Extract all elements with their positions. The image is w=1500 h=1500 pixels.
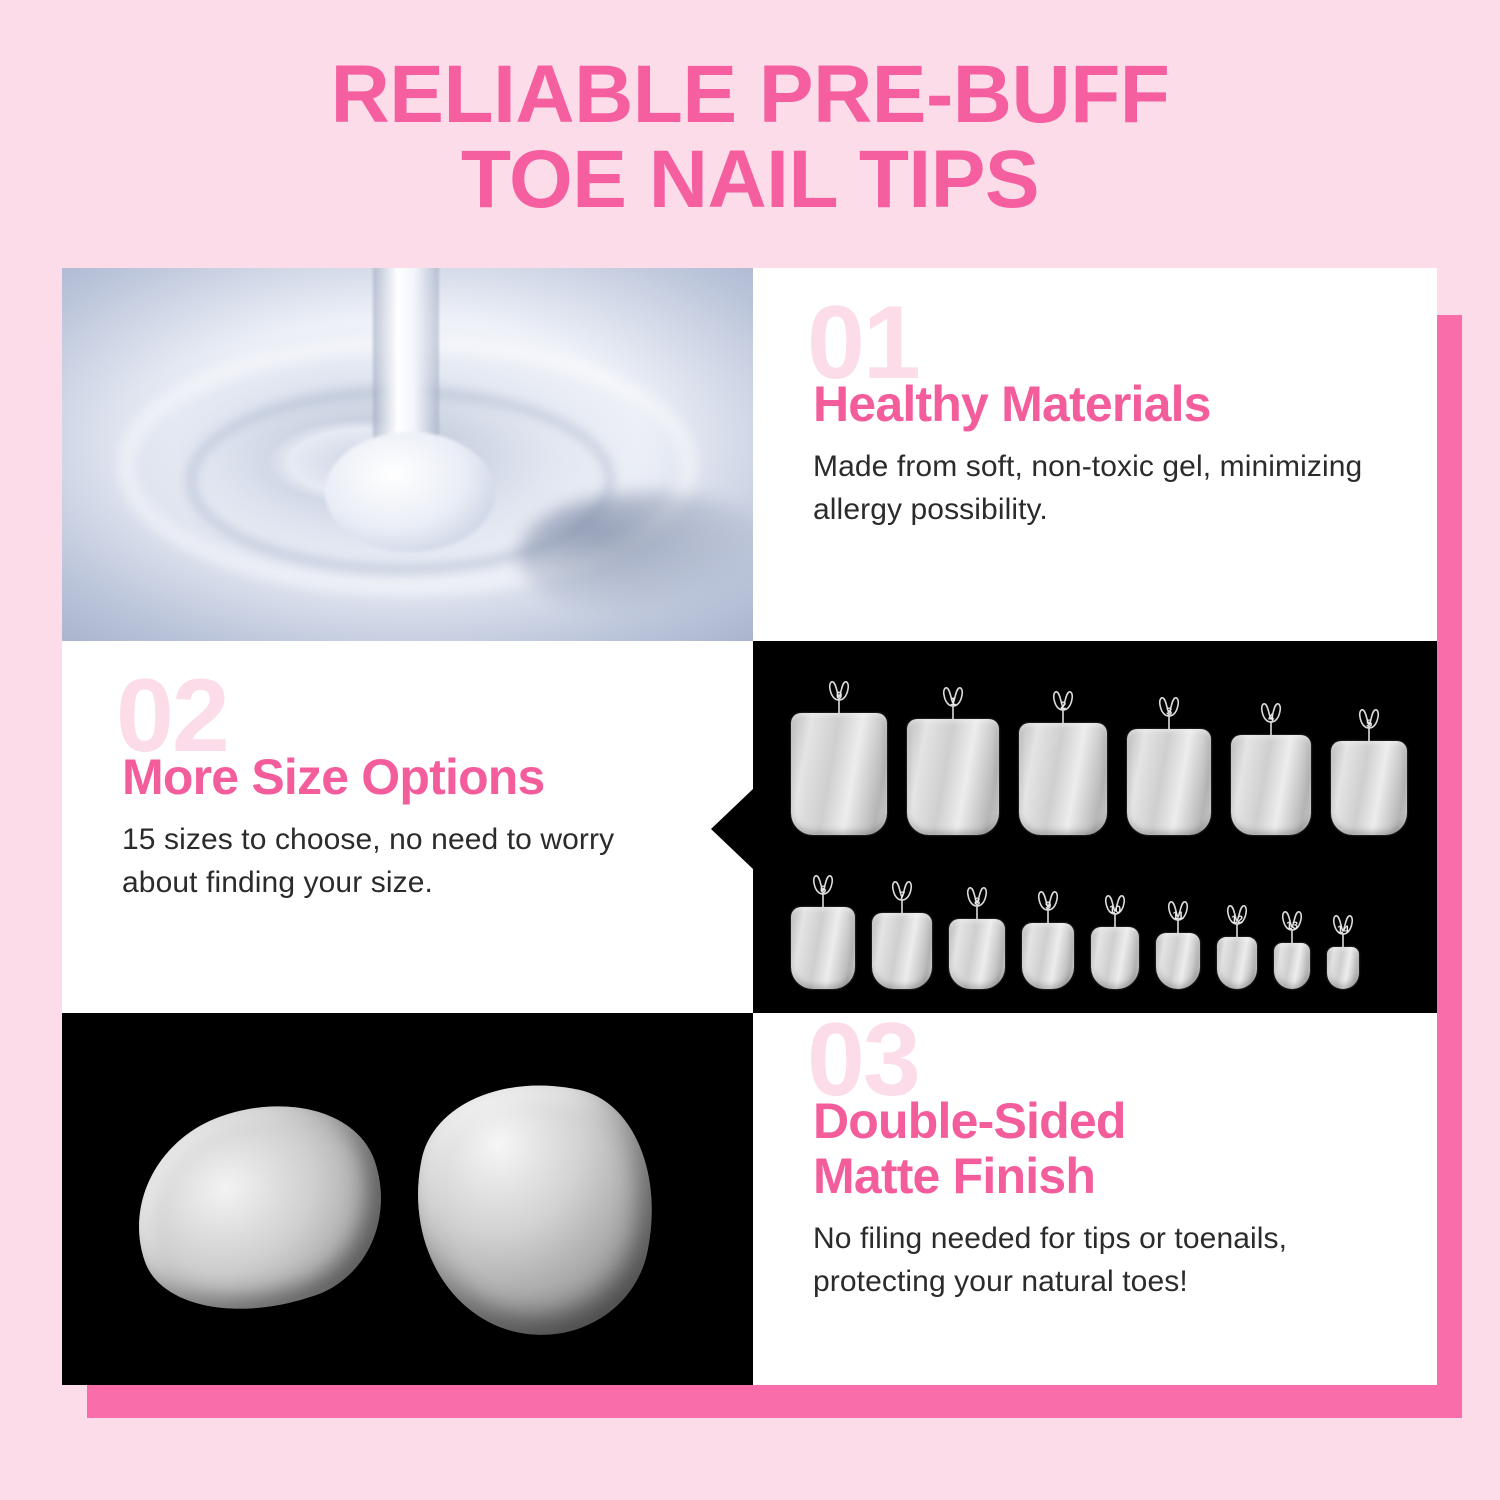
- nail-tip-size-3: 3: [1127, 695, 1211, 835]
- butterfly-tab-icon: 11: [1163, 899, 1193, 937]
- nail-tip-size-9: 9: [1022, 889, 1074, 989]
- feature-title-02: More Size Options: [122, 750, 693, 805]
- nail-tip-size-2: 2: [1019, 689, 1107, 835]
- butterfly-tab-icon: 4: [1256, 701, 1286, 739]
- nail-tip-body: [1217, 937, 1257, 989]
- nail-tip-size-label: 9: [1033, 900, 1063, 912]
- feature-title-03-line-1: Double-Sided: [813, 1093, 1126, 1149]
- feature-image-healthy-materials: [62, 268, 753, 641]
- nail-tip-row-bottom: 67891011121314: [791, 873, 1359, 989]
- feature-description-02: 15 sizes to choose, no need to worry abo…: [122, 819, 693, 904]
- nail-tip-body: [1127, 729, 1211, 835]
- nail-tip-body: [1327, 947, 1359, 989]
- nail-tip-body: [1156, 933, 1200, 989]
- nail-tip-body: [872, 913, 932, 989]
- butterfly-tab-icon: 3: [1154, 695, 1184, 733]
- nail-tip-size-label: 8: [962, 896, 992, 908]
- butterfly-tab-icon: 1: [938, 685, 968, 723]
- title-line-1: RELIABLE PRE-BUFF: [0, 52, 1500, 137]
- nail-tip-row-top: 012345: [791, 679, 1407, 835]
- page-title: RELIABLE PRE-BUFF TOE NAIL TIPS: [0, 52, 1500, 223]
- gel-blob-shape: [325, 432, 495, 552]
- nail-tip-size-4: 4: [1231, 701, 1311, 835]
- feature-description-03: No filing needed for tips or toenails, p…: [813, 1218, 1377, 1303]
- feature-description-01: Made from soft, non-toxic gel, minimizin…: [813, 446, 1377, 531]
- nail-tip-body: [1231, 735, 1311, 835]
- butterfly-tab-icon: 0: [824, 679, 854, 717]
- nail-tip-size-label: 5: [1354, 718, 1384, 730]
- butterfly-tab-icon: 12: [1222, 903, 1252, 941]
- nail-tip-body: [1331, 741, 1407, 835]
- nail-tip-size-1: 1: [907, 685, 999, 835]
- butterfly-tab-icon: 8: [962, 885, 992, 923]
- nail-tip-size-12: 12: [1217, 903, 1257, 989]
- nail-tip-size-5: 5: [1331, 707, 1407, 835]
- feature-grid: 01 Healthy Materials Made from soft, non…: [62, 268, 1437, 1385]
- feature-title-03-line-2: Matte Finish: [813, 1148, 1095, 1204]
- nail-tip-size-label: 2: [1048, 700, 1078, 712]
- nail-tip-size-7: 7: [872, 879, 932, 989]
- nail-tip-body: [791, 713, 887, 835]
- butterfly-tab-icon: 7: [887, 879, 917, 917]
- nail-tip-body: [907, 719, 999, 835]
- gel-shadow-shape: [518, 492, 753, 619]
- butterfly-tab-icon: 13: [1277, 909, 1307, 947]
- nail-tip-size-label: 1: [938, 696, 968, 708]
- butterfly-tab-icon: 6: [808, 873, 838, 911]
- feature-image-size-chart: 012345 67891011121314: [753, 641, 1437, 1013]
- butterfly-tab-icon: 9: [1033, 889, 1063, 927]
- nail-tip-size-label: 3: [1154, 706, 1184, 718]
- butterfly-tab-icon: 5: [1354, 707, 1384, 745]
- feature-title-03: Double-Sided Matte Finish: [813, 1094, 1377, 1204]
- feature-text-more-size-options: 02 More Size Options 15 sizes to choose,…: [62, 641, 753, 1013]
- nail-tip-body: [949, 919, 1005, 989]
- nail-tip-size-label: 6: [808, 884, 838, 896]
- nail-tip-size-label: 4: [1256, 712, 1286, 724]
- nail-tip-size-13: 13: [1274, 909, 1310, 989]
- nail-tip-size-0: 0: [791, 679, 887, 835]
- feature-title-01: Healthy Materials: [813, 377, 1377, 432]
- nail-tip-size-label: 7: [887, 890, 917, 902]
- product-infographic: RELIABLE PRE-BUFF TOE NAIL TIPS 01 Healt…: [0, 0, 1500, 1500]
- feature-text-healthy-materials: 01 Healthy Materials Made from soft, non…: [753, 268, 1437, 641]
- nail-tip-body: [1019, 723, 1107, 835]
- matte-nail-tip-back: [391, 1061, 678, 1355]
- title-line-2: TOE NAIL TIPS: [0, 137, 1500, 222]
- nail-tip-size-label: 13: [1277, 920, 1307, 932]
- butterfly-tab-icon: 10: [1100, 893, 1130, 931]
- nail-tip-size-label: 11: [1163, 910, 1193, 922]
- butterfly-tab-icon: 2: [1048, 689, 1078, 727]
- matte-nail-tip-front: [108, 1074, 409, 1344]
- nail-tip-size-10: 10: [1091, 893, 1139, 989]
- nail-tip-size-label: 14: [1328, 924, 1358, 936]
- nail-tip-size-label: 12: [1222, 914, 1252, 926]
- nail-tip-size-8: 8: [949, 885, 1005, 989]
- nail-tip-body: [791, 907, 855, 989]
- nail-tip-body: [1091, 927, 1139, 989]
- nail-tip-body: [1274, 943, 1310, 989]
- feature-text-matte-finish: 03 Double-Sided Matte Finish No filing n…: [753, 1013, 1437, 1385]
- nail-tip-body: [1022, 923, 1074, 989]
- nail-tip-size-14: 14: [1327, 913, 1359, 989]
- nail-tip-size-11: 11: [1156, 899, 1200, 989]
- butterfly-tab-icon: 14: [1328, 913, 1358, 951]
- nail-tip-size-label: 10: [1100, 904, 1130, 916]
- nail-tip-size-label: 0: [824, 690, 854, 702]
- nail-tip-size-6: 6: [791, 873, 855, 989]
- feature-image-matte-finish: [62, 1013, 753, 1385]
- pointer-arrow-row-2: [711, 789, 753, 869]
